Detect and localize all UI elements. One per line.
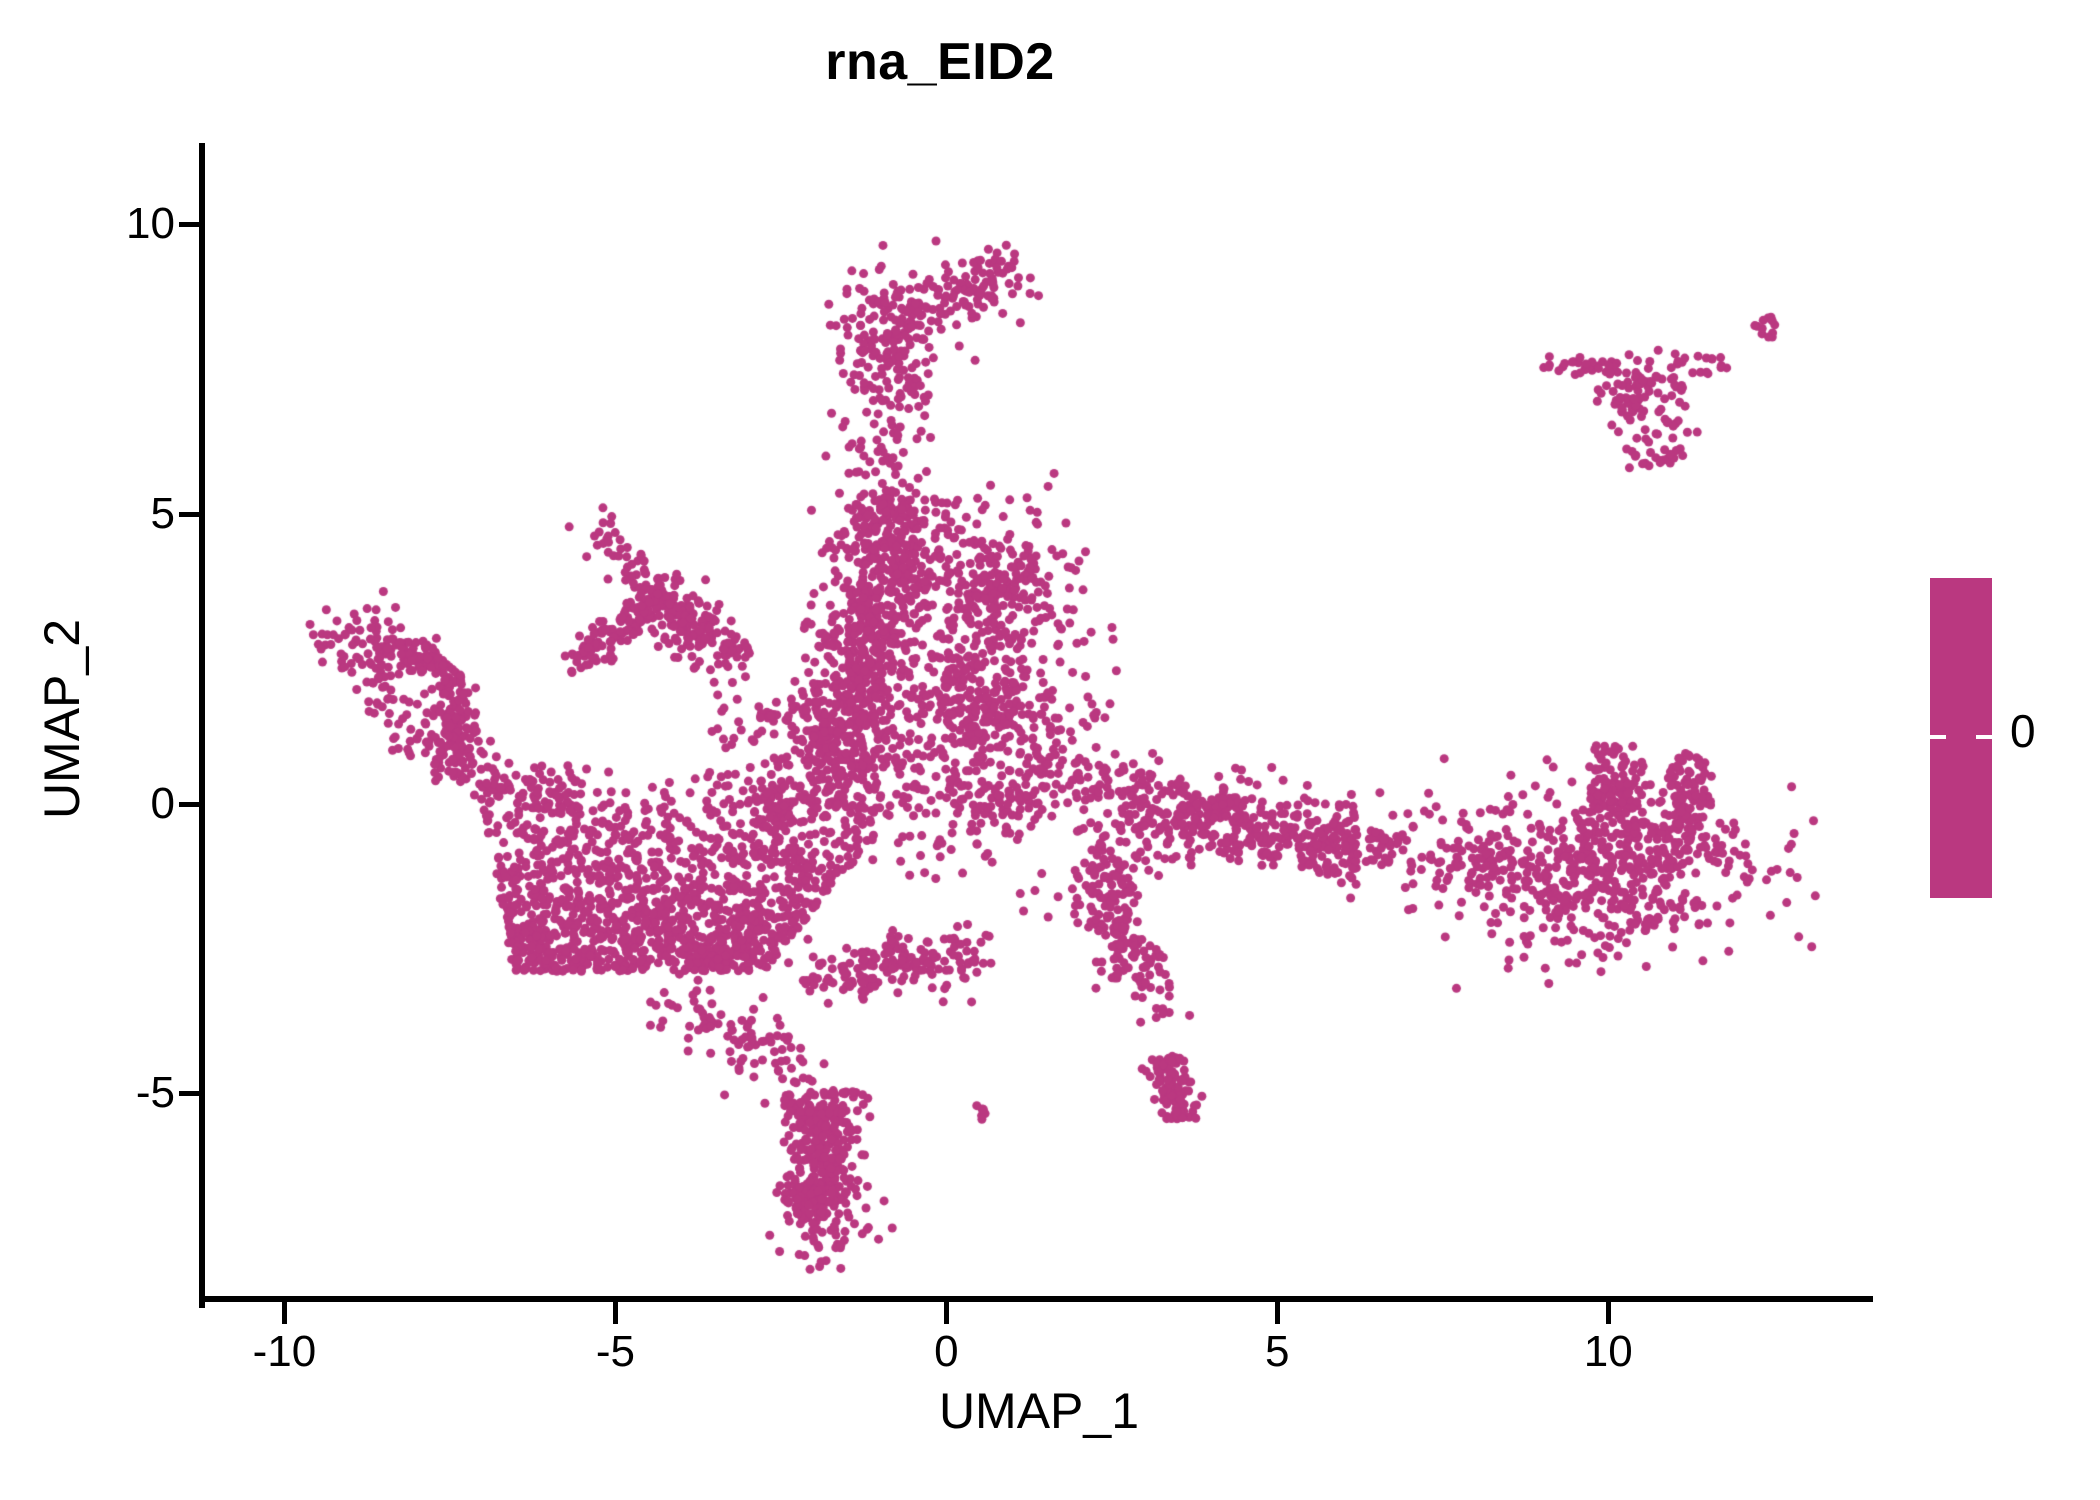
x-tick-label: -5 [535,1330,695,1374]
x-tick-mark [282,1302,287,1324]
y-tick-label: 10 [35,202,175,246]
colorbar-tick-right-icon [1976,735,1992,739]
y-tick-mark [179,1091,199,1096]
colorbar-tick-label: 0 [2010,708,2036,754]
y-axis-line [199,143,205,1308]
x-tick-mark [1606,1302,1611,1324]
y-tick-mark [179,512,199,517]
page-title: rna_EID2 [0,32,1880,92]
x-tick-label: 10 [1528,1330,1688,1374]
x-tick-mark [1275,1302,1280,1324]
colorbar-tick-left-icon [1930,735,1946,739]
x-axis-title: UMAP_1 [205,1382,1873,1440]
colorbar-legend: 0 [1930,578,2080,908]
x-tick-label: -10 [204,1330,364,1374]
x-axis-line [199,1296,1873,1302]
y-tick-mark [179,802,199,807]
x-tick-label: 0 [866,1330,1026,1374]
y-tick-mark [179,222,199,227]
scatter-points-layer [205,143,1873,1302]
x-tick-label: 5 [1197,1330,1357,1374]
scatter-plot-panel [205,143,1873,1302]
x-tick-mark [613,1302,618,1324]
chart-page: rna_EID2 1050-5 -10-50510 UMAP_1 UMAP_2 … [0,0,2100,1500]
y-axis-title: UMAP_2 [33,339,91,1099]
x-tick-mark [944,1302,949,1324]
